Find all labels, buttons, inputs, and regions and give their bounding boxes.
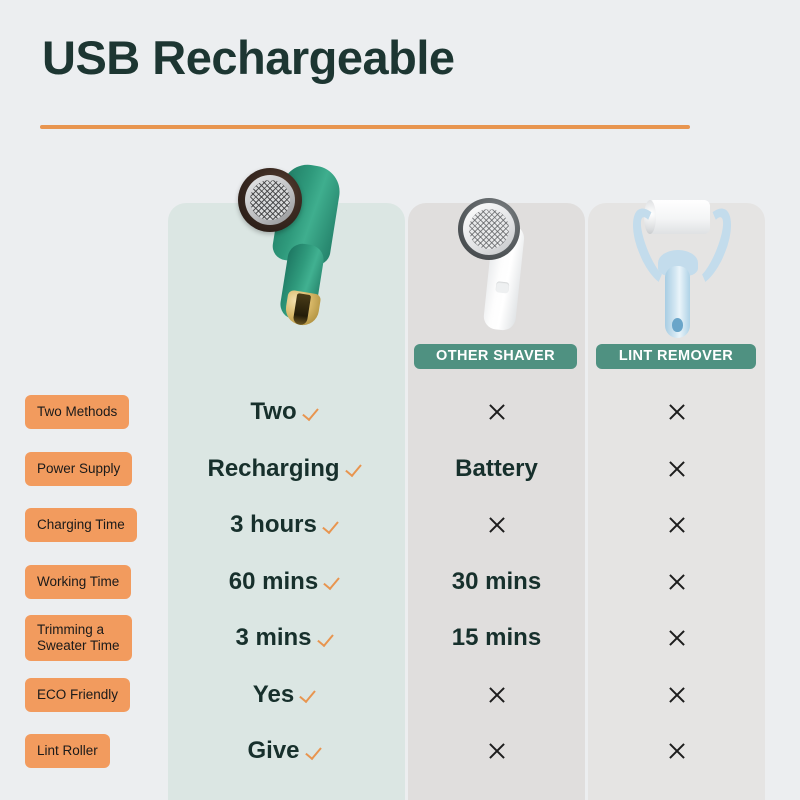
cell-lint-remover (588, 505, 765, 545)
cell-lint-remover (588, 675, 765, 715)
cross-icon (487, 402, 507, 422)
cell-main-product: 3 mins (168, 618, 405, 658)
other-shaver-head-ring (463, 203, 515, 255)
cell-value: 30 mins (452, 568, 541, 596)
cell-lint-remover (588, 618, 765, 658)
check-icon (307, 742, 326, 761)
comparison-row: Charging Time3 hours (0, 508, 800, 564)
page-title: USB Rechargeable (42, 30, 455, 85)
check-icon (319, 629, 338, 648)
cell-value: Give (247, 737, 299, 765)
column-header-lint-remover: LINT REMOVER (596, 344, 756, 369)
comparison-row: ECO FriendlyYes (0, 678, 800, 734)
cell-other-shaver: 15 mins (408, 618, 585, 658)
blue-lint-roller-icon (632, 198, 722, 338)
cell-main-product: Two (168, 392, 405, 432)
cross-icon (667, 741, 687, 761)
shaver-head (238, 168, 302, 232)
row-label-pill: Two Methods (25, 395, 129, 429)
title-divider-rule (40, 125, 690, 129)
cell-lint-remover (588, 731, 765, 771)
green-lint-shaver-icon (232, 162, 352, 337)
cross-icon (667, 572, 687, 592)
cross-icon (487, 685, 507, 705)
cross-icon (487, 515, 507, 535)
cell-value: Recharging (207, 455, 339, 483)
column-header-other-shaver: OTHER SHAVER (414, 344, 577, 369)
check-icon (301, 685, 320, 704)
cell-main-product: 3 hours (168, 505, 405, 545)
lint-roller-handle (665, 266, 690, 338)
cross-icon (667, 628, 687, 648)
shaver-head-ring (245, 175, 295, 225)
row-label-pill: Power Supply (25, 452, 132, 486)
other-shaver-head-mesh (469, 209, 509, 249)
cell-other-shaver (408, 675, 585, 715)
cell-other-shaver (408, 505, 585, 545)
check-icon (324, 516, 343, 535)
cell-other-shaver: 30 mins (408, 562, 585, 602)
cross-icon (487, 741, 507, 761)
cell-value: 3 hours (230, 511, 317, 539)
white-lint-shaver-icon (452, 196, 544, 336)
check-icon (325, 572, 344, 591)
comparison-row: Two MethodsTwo (0, 395, 800, 451)
cell-lint-remover (588, 449, 765, 489)
cell-other-shaver (408, 392, 585, 432)
cell-value: 60 mins (229, 568, 318, 596)
cell-main-product: Recharging (168, 449, 405, 489)
cross-icon (667, 459, 687, 479)
comparison-row: Lint RollerGive (0, 734, 800, 790)
cell-lint-remover (588, 562, 765, 602)
cell-value: Yes (253, 681, 294, 709)
comparison-row: Power SupplyRechargingBattery (0, 452, 800, 508)
cross-icon (667, 515, 687, 535)
row-label-pill: Lint Roller (25, 734, 110, 768)
cross-icon (667, 685, 687, 705)
cell-value: 3 mins (235, 624, 311, 652)
shaver-head-mesh (250, 180, 290, 220)
row-label-pill: ECO Friendly (25, 678, 130, 712)
cell-main-product: Yes (168, 675, 405, 715)
cell-main-product: 60 mins (168, 562, 405, 602)
cell-value: Two (250, 398, 296, 426)
comparison-row: Working Time60 mins30 mins (0, 565, 800, 621)
cell-value: Battery (455, 455, 538, 483)
cell-value: 15 mins (452, 624, 541, 652)
cell-lint-remover (588, 392, 765, 432)
cell-other-shaver (408, 731, 585, 771)
row-label-pill: Charging Time (25, 508, 137, 542)
check-icon (347, 459, 366, 478)
other-shaver-head (458, 198, 520, 260)
comparison-row: Trimming a Sweater Time3 mins15 mins (0, 621, 800, 677)
check-icon (304, 403, 323, 422)
cell-main-product: Give (168, 731, 405, 771)
cross-icon (667, 402, 687, 422)
row-label-pill: Trimming a Sweater Time (25, 615, 132, 661)
cell-other-shaver: Battery (408, 449, 585, 489)
shaver-gold-base (284, 290, 322, 328)
row-label-pill: Working Time (25, 565, 131, 599)
